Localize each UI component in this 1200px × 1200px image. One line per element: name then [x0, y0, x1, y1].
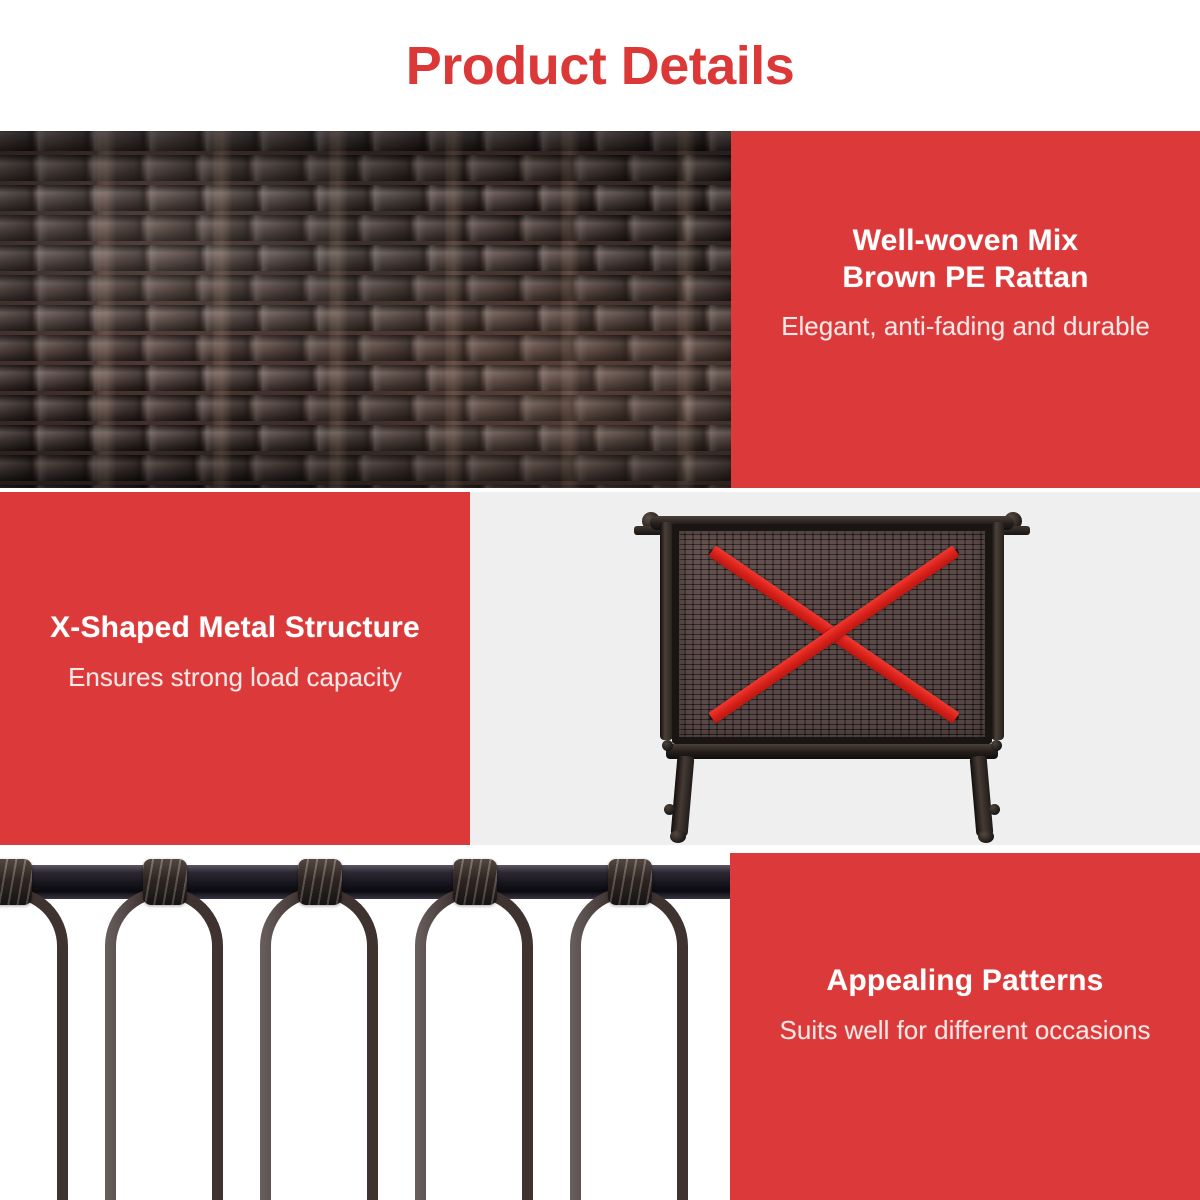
rattan-knot-wrap [608, 859, 652, 905]
feature-subtitle: Ensures strong load capacity [68, 661, 402, 694]
rattan-knot-wrap [298, 859, 342, 905]
feature-title-line1: Well-woven Mix [853, 224, 1079, 257]
metal-loop-arch [415, 887, 533, 1200]
page-header: Product Details [0, 0, 1200, 131]
frame-rivet [664, 804, 675, 815]
metal-loop-arch [105, 887, 223, 1200]
frame-leg-right [970, 755, 994, 836]
rattan-lighting-overlay [0, 131, 731, 488]
frame-foot-left [670, 830, 686, 843]
metal-loop-arch [570, 887, 688, 1200]
x-brace-frame-photo [470, 492, 1200, 845]
rattan-knot-wrap [143, 859, 187, 905]
feature-panel-well-woven-rattan: Well-woven Mix Brown PE Rattan Elegant, … [731, 131, 1200, 488]
rattan-knot-wrap [453, 859, 497, 905]
feature-subtitle: Elegant, anti-fading and durable [781, 310, 1150, 343]
feature-title: X-Shaped Metal Structure [50, 610, 420, 647]
feature-panel-appealing-patterns: Appealing Patterns Suits well for differ… [730, 853, 1200, 1200]
frame-rivet [991, 740, 1002, 751]
feature-panel-x-shaped-metal-structure: X-Shaped Metal Structure Ensures strong … [0, 492, 470, 845]
frame-foot-right [978, 830, 994, 843]
feature-title-line2: Brown PE Rattan [842, 261, 1088, 294]
frame-bottom-bar [666, 744, 998, 759]
product-details-infographic: Product Details Well-woven Mix Brown PE [0, 0, 1200, 1200]
frame-leg-left [671, 755, 695, 836]
metal-loop-arch [0, 887, 68, 1200]
page-title: Product Details [406, 39, 795, 93]
rattan-weave-photo [0, 131, 731, 488]
row-separator [0, 845, 1200, 853]
feature-subtitle: Suits well for different occasions [780, 1014, 1151, 1047]
feature-title: Appealing Patterns [827, 963, 1104, 1000]
metal-loop-arch [260, 887, 378, 1200]
frame-rivet [662, 740, 673, 751]
bench-side-frame [632, 504, 1032, 842]
rattan-knot-wrap [0, 859, 32, 905]
feature-title: Well-woven Mix Brown PE Rattan [842, 223, 1088, 296]
frame-rivet [989, 804, 1000, 815]
frame-post-right [991, 522, 1004, 740]
loop-pattern-photo [0, 853, 730, 1200]
